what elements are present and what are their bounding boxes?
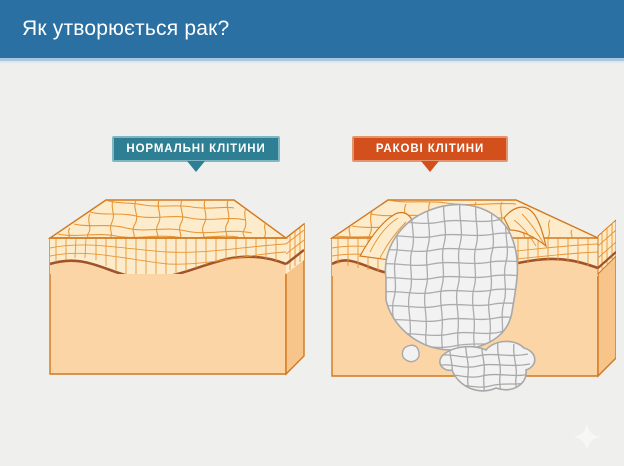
slide: Як утворюється рак? НОРМАЛЬНІ КЛІТИНИ РА… <box>0 0 624 466</box>
page-title: Як утворюється рак? <box>22 15 229 43</box>
four-point-star-watermark <box>572 422 602 452</box>
header-underline-light <box>0 61 624 63</box>
label-normal-cells: НОРМАЛЬНІ КЛІТИНИ <box>112 136 280 162</box>
normal-skin-block <box>18 178 306 403</box>
label-normal-cells-text: НОРМАЛЬНІ КЛІТИНИ <box>126 143 265 155</box>
label-cancer-cells: РАКОВІ КЛІТИНИ <box>352 136 508 162</box>
epidermis-front-band <box>50 236 286 278</box>
label-normal-cells-pointer <box>187 161 205 172</box>
label-cancer-cells-text: РАКОВІ КЛІТИНИ <box>376 143 484 155</box>
cancer-skin-block <box>326 160 616 403</box>
detached-tumor-cell <box>402 345 419 361</box>
